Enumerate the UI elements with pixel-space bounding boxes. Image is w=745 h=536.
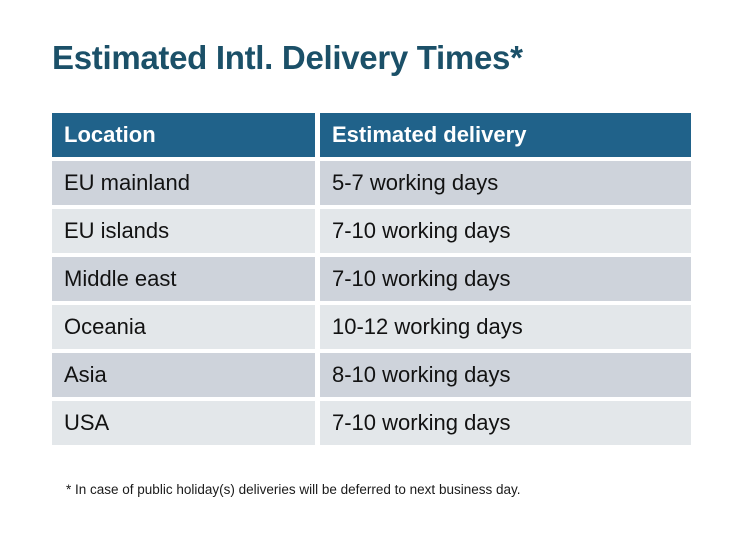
table-row: Middle east 7-10 working days (52, 257, 691, 301)
cell-location: EU islands (52, 209, 315, 253)
cell-delivery: 10-12 working days (320, 305, 691, 349)
cell-delivery: 7-10 working days (320, 401, 691, 445)
column-header-estimated-delivery: Estimated delivery (320, 113, 691, 157)
cell-location: Oceania (52, 305, 315, 349)
table-header-row: Location Estimated delivery (52, 113, 691, 157)
table-row: Oceania 10-12 working days (52, 305, 691, 349)
cell-location: Middle east (52, 257, 315, 301)
table-row: Asia 8-10 working days (52, 353, 691, 397)
table-row: EU mainland 5-7 working days (52, 161, 691, 205)
delivery-times-table: Location Estimated delivery EU mainland … (52, 113, 691, 445)
cell-location: EU mainland (52, 161, 315, 205)
delivery-times-page: Estimated Intl. Delivery Times* Location… (0, 0, 745, 536)
table-row: USA 7-10 working days (52, 401, 691, 445)
table-row: EU islands 7-10 working days (52, 209, 691, 253)
page-title: Estimated Intl. Delivery Times* (52, 38, 523, 78)
cell-location: Asia (52, 353, 315, 397)
cell-delivery: 7-10 working days (320, 209, 691, 253)
cell-delivery: 7-10 working days (320, 257, 691, 301)
footnote-text: * In case of public holiday(s) deliverie… (66, 481, 521, 499)
cell-location: USA (52, 401, 315, 445)
cell-delivery: 5-7 working days (320, 161, 691, 205)
column-header-location: Location (52, 113, 315, 157)
cell-delivery: 8-10 working days (320, 353, 691, 397)
